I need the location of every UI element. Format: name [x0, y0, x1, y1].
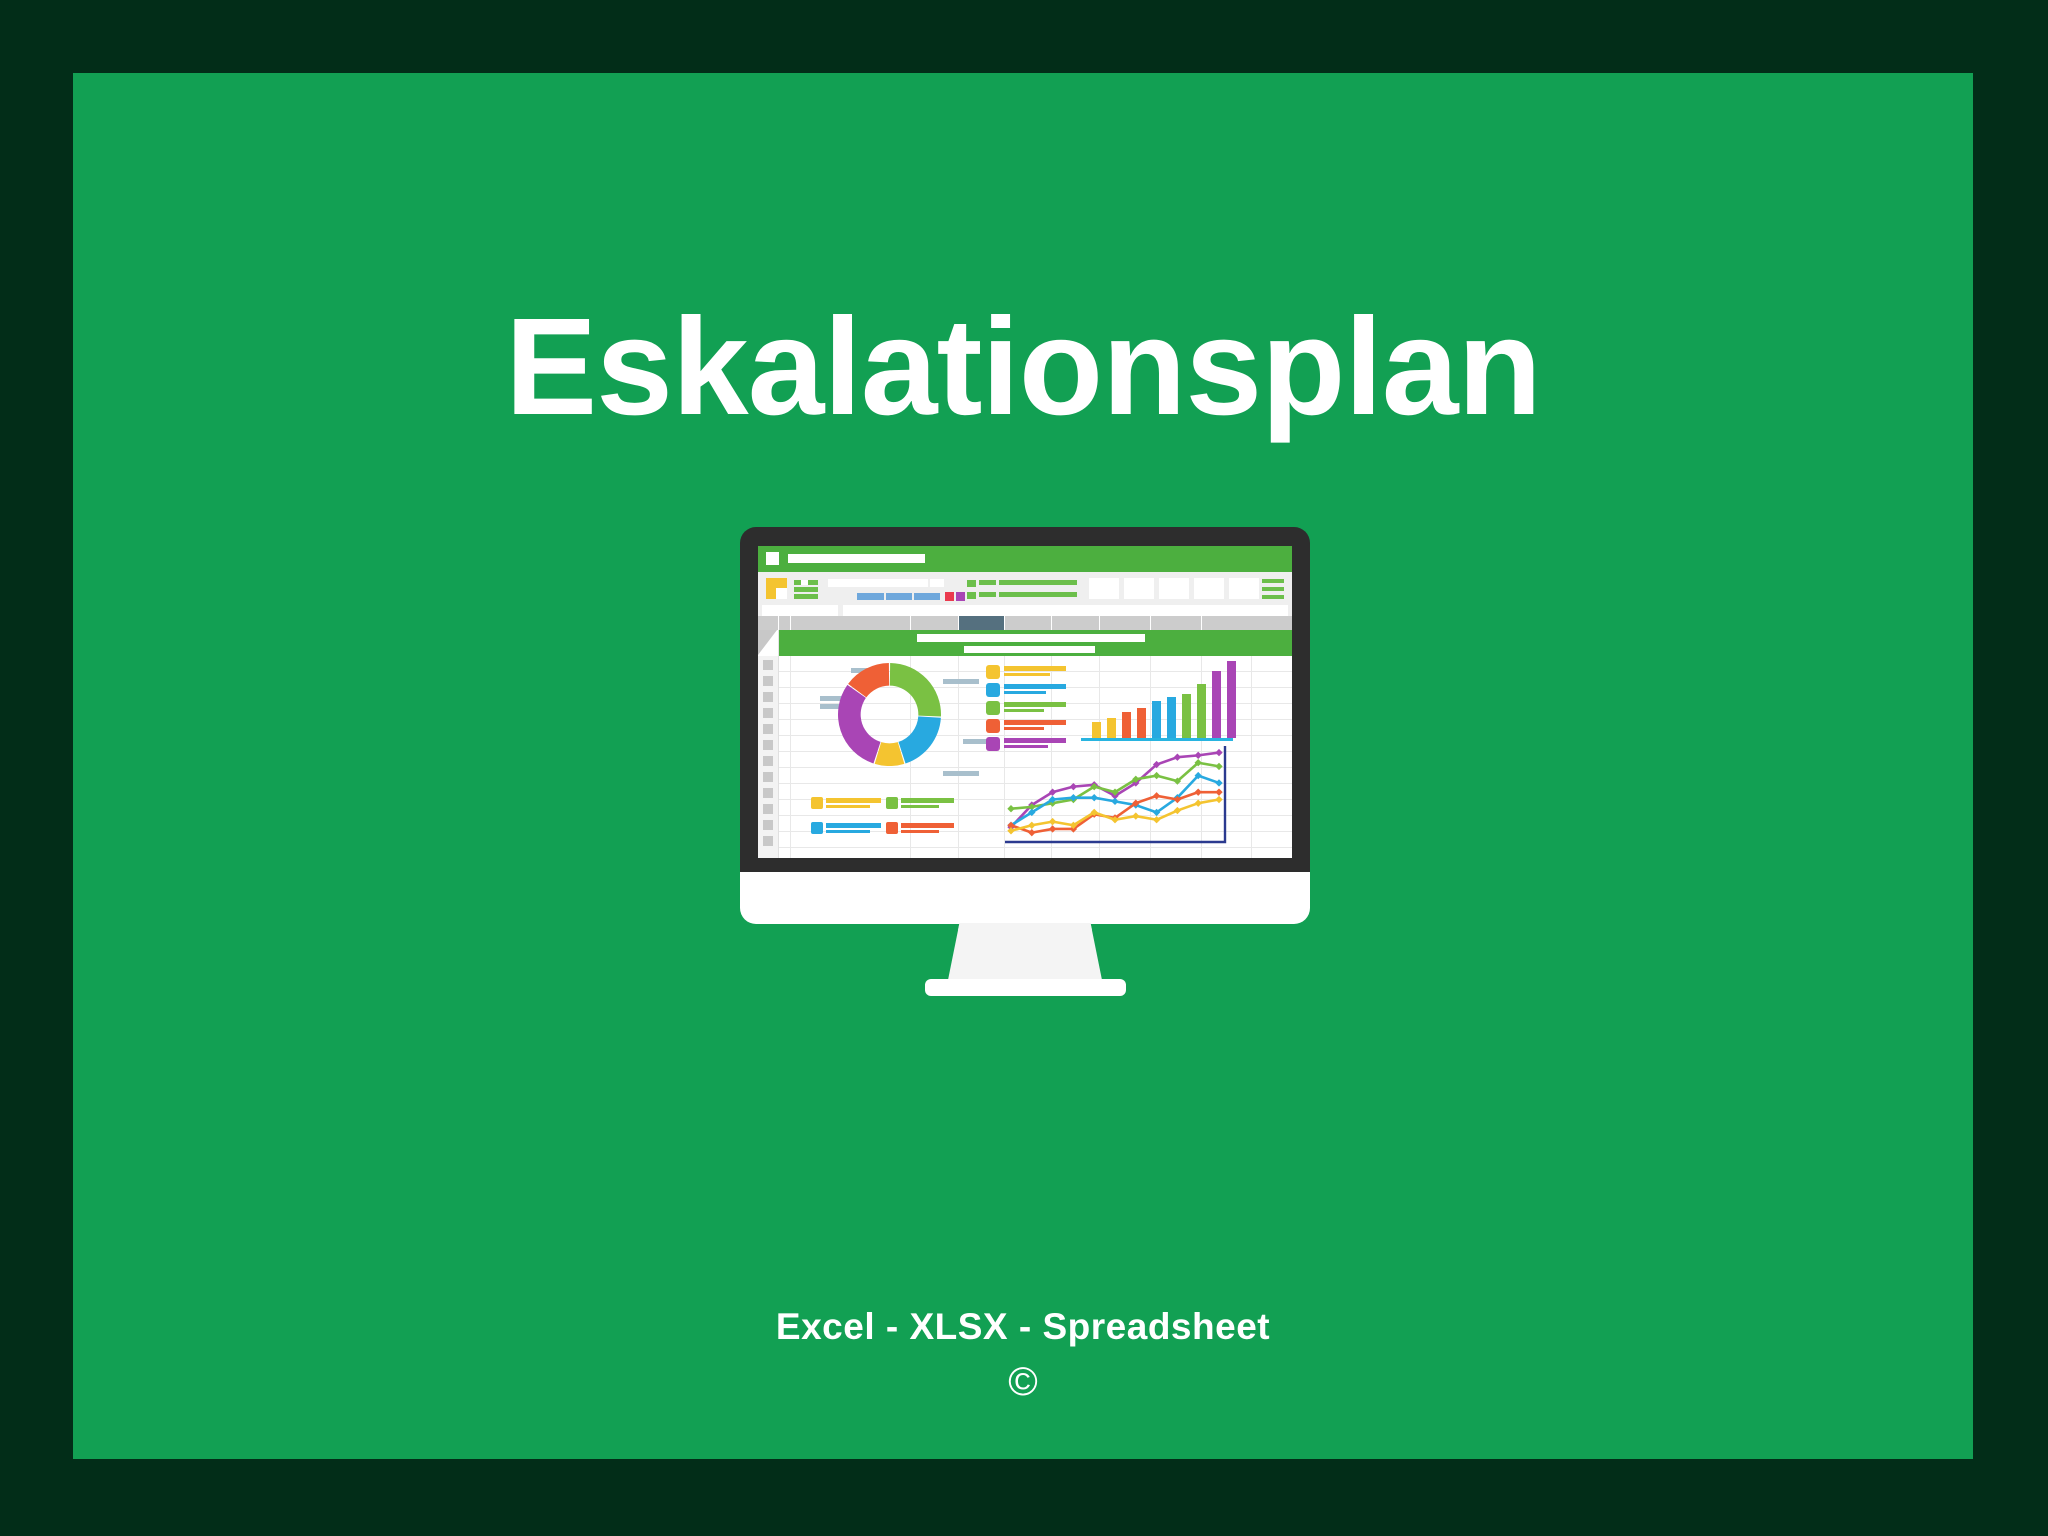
monitor-chin — [740, 872, 1310, 924]
ribbon-font-color-swatch[interactable] — [945, 592, 954, 601]
legend-row — [986, 683, 1066, 701]
column-header-c[interactable] — [911, 616, 958, 630]
ribbon-menu-icon-line-1[interactable] — [1262, 579, 1284, 583]
ribbon-conditional-format-button[interactable] — [1124, 578, 1154, 599]
ribbon-font-name-field[interactable] — [828, 579, 928, 587]
donut-slice-1[interactable] — [890, 663, 941, 716]
column-header-h[interactable] — [1151, 616, 1201, 630]
row-header-10[interactable] — [763, 804, 773, 814]
banner-heading-placeholder — [917, 634, 1145, 642]
bar-chart-bar[interactable] — [1092, 722, 1101, 738]
ribbon-insert-button[interactable] — [1229, 578, 1259, 599]
mini-legend-bar-primary — [826, 823, 881, 828]
ribbon-italic-button[interactable] — [886, 593, 912, 600]
row-header-1[interactable] — [763, 660, 773, 670]
ribbon-fill-color-swatch[interactable] — [956, 592, 965, 601]
ribbon-align-icon-1[interactable] — [967, 580, 976, 587]
line-chart-marker — [1153, 816, 1160, 823]
column-header-e[interactable] — [1005, 616, 1051, 630]
line-chart-marker — [1028, 829, 1035, 836]
mini-legend-swatch — [811, 797, 823, 809]
row-header-corner[interactable] — [758, 630, 779, 656]
column-header-a[interactable] — [779, 616, 790, 630]
legend-row — [986, 719, 1066, 737]
ribbon-align-line-4 — [999, 592, 1077, 597]
row-header-strip[interactable] — [758, 656, 779, 858]
donut-slice-4[interactable] — [838, 685, 881, 764]
bar-chart[interactable] — [1081, 656, 1233, 741]
legend-color-swatch — [986, 683, 1000, 697]
spreadsheet-titlebar — [758, 546, 1292, 572]
monitor-stand-base — [925, 979, 1126, 996]
ribbon-cell-styles-button[interactable] — [1194, 578, 1224, 599]
legend-label-bar-secondary — [1004, 727, 1044, 730]
row-header-2[interactable] — [763, 676, 773, 686]
footer-caption: Excel - XLSX - Spreadsheet — [73, 1306, 1973, 1348]
ribbon-number-format-button[interactable] — [1089, 578, 1119, 599]
copyright-symbol: © — [73, 1362, 1973, 1402]
line-chart-marker — [1215, 796, 1222, 803]
ribbon-underline-button[interactable] — [914, 593, 940, 600]
ribbon-bold-button[interactable] — [857, 593, 884, 600]
legend-label-bar-secondary — [1004, 709, 1044, 712]
column-header-row — [758, 616, 1292, 630]
mini-legend-bar-primary — [901, 823, 954, 828]
donut-chart-svg — [838, 663, 941, 766]
row-header-11[interactable] — [763, 820, 773, 830]
line-chart-marker — [1007, 827, 1014, 834]
bar-chart-bar[interactable] — [1152, 701, 1161, 738]
bar-chart-bar[interactable] — [1107, 718, 1116, 738]
donut-label-bottom — [943, 771, 979, 776]
ribbon-align-icon-2[interactable] — [967, 592, 976, 599]
ribbon-font-gap — [801, 580, 808, 585]
row-header-4[interactable] — [763, 708, 773, 718]
poster-inner-panel: Eskalationsplan — [73, 73, 1973, 1459]
legend-label-bar-primary — [1004, 684, 1066, 689]
ribbon-font-size-field[interactable] — [930, 579, 944, 587]
line-chart-marker — [1195, 752, 1202, 759]
line-chart-marker — [1111, 798, 1118, 805]
ribbon-paste-icon[interactable] — [766, 578, 787, 599]
sheet-title-banner-row — [758, 630, 1292, 656]
line-chart-marker — [1049, 818, 1056, 825]
column-header-d-selected[interactable] — [959, 616, 1004, 630]
line-chart-marker — [1153, 772, 1160, 779]
line-chart-marker — [1215, 749, 1222, 756]
mini-legend-bar-secondary — [901, 805, 939, 808]
legend-label-bar-primary — [1004, 738, 1066, 743]
bar-chart-bar[interactable] — [1122, 712, 1131, 738]
bar-chart-baseline — [1081, 738, 1233, 741]
mini-legend-bar-primary — [901, 798, 954, 803]
name-box[interactable] — [762, 605, 838, 616]
formula-bar-row — [758, 605, 1292, 616]
sheet-title-banner — [779, 630, 1292, 656]
row-header-3[interactable] — [763, 692, 773, 702]
ribbon-align-line-3 — [979, 592, 996, 597]
line-chart-marker — [1007, 805, 1014, 812]
line-chart-svg — [983, 744, 1233, 856]
mini-legend-bar-secondary — [901, 830, 939, 833]
ribbon-menu-icon-line-3[interactable] — [1262, 595, 1284, 599]
bar-chart-bar[interactable] — [1212, 671, 1221, 738]
row-header-5[interactable] — [763, 724, 773, 734]
mini-legend-bar-secondary — [826, 830, 870, 833]
spreadsheet-ribbon-toolbar[interactable] — [758, 572, 1292, 605]
ribbon-table-format-button[interactable] — [1159, 578, 1189, 599]
line-chart-marker — [1174, 754, 1181, 761]
footer: Excel - XLSX - Spreadsheet © — [73, 1306, 1973, 1402]
bar-chart-bar[interactable] — [1167, 697, 1176, 738]
chart-legend — [986, 665, 1066, 755]
row-header-6[interactable] — [763, 740, 773, 750]
monitor-stand-neck — [947, 923, 1103, 985]
sheet-grid-body[interactable] — [758, 656, 1292, 858]
bar-chart-bar[interactable] — [1197, 684, 1206, 738]
legend-color-swatch — [986, 719, 1000, 733]
line-chart-marker — [1132, 812, 1139, 819]
ribbon-font-line-3 — [794, 594, 818, 599]
line-chart-marker — [1215, 763, 1222, 770]
line-chart[interactable] — [983, 744, 1233, 856]
titlebar-filename-placeholder — [788, 554, 925, 563]
ribbon-align-line-1 — [979, 580, 996, 585]
legend-label-bar-secondary — [1004, 673, 1050, 676]
page-title: Eskalationsplan — [73, 295, 1973, 440]
legend-label-bar-secondary — [1004, 691, 1046, 694]
line-chart-marker — [1070, 783, 1077, 790]
line-chart-marker — [1195, 800, 1202, 807]
poster-canvas: Eskalationsplan — [0, 0, 2048, 1536]
line-chart-marker — [1091, 794, 1098, 801]
line-chart-marker — [1215, 779, 1222, 786]
line-chart-marker — [1174, 807, 1181, 814]
titlebar-app-icon — [766, 552, 779, 565]
legend-label-bar-primary — [1004, 666, 1066, 671]
row-header-7[interactable] — [763, 756, 773, 766]
formula-input[interactable] — [843, 605, 1288, 616]
mini-legend-swatch — [886, 797, 898, 809]
bar-chart-bar[interactable] — [1137, 708, 1146, 738]
line-chart-marker — [1049, 825, 1056, 832]
column-header-g[interactable] — [1100, 616, 1150, 630]
row-header-9[interactable] — [763, 788, 773, 798]
legend-label-bar-primary — [1004, 720, 1066, 725]
bar-chart-bar[interactable] — [1227, 661, 1236, 738]
column-header-corner[interactable] — [758, 616, 778, 630]
mini-legend-swatch — [886, 822, 898, 834]
ribbon-menu-icon-line-2[interactable] — [1262, 587, 1284, 591]
legend-row — [986, 665, 1066, 683]
line-chart-marker — [1028, 822, 1035, 829]
mini-legend-bar-primary — [826, 798, 881, 803]
legend-color-swatch — [986, 665, 1000, 679]
donut-chart[interactable] — [838, 663, 941, 766]
banner-subheading-placeholder — [964, 646, 1095, 653]
row-header-8[interactable] — [763, 772, 773, 782]
mini-legend-bar-secondary — [826, 805, 870, 808]
mini-legend-swatch — [811, 822, 823, 834]
legend-label-bar-primary — [1004, 702, 1066, 707]
donut-slice-2[interactable] — [898, 716, 940, 763]
line-chart-marker — [1153, 792, 1160, 799]
line-chart-marker — [1215, 788, 1222, 795]
monitor-screen — [758, 546, 1292, 858]
legend-row — [986, 701, 1066, 719]
line-chart-marker — [1195, 788, 1202, 795]
ribbon-align-line-2 — [999, 580, 1077, 585]
donut-label-right-top — [943, 679, 979, 684]
bar-chart-bar[interactable] — [1182, 694, 1191, 738]
column-header-f[interactable] — [1052, 616, 1099, 630]
column-header-i[interactable] — [1202, 616, 1292, 630]
legend-color-swatch — [986, 701, 1000, 715]
ribbon-font-line-2 — [794, 587, 818, 592]
column-header-b[interactable] — [791, 616, 910, 630]
monitor-illustration — [740, 527, 1310, 915]
monitor-bezel — [740, 527, 1310, 872]
row-header-12[interactable] — [763, 836, 773, 846]
